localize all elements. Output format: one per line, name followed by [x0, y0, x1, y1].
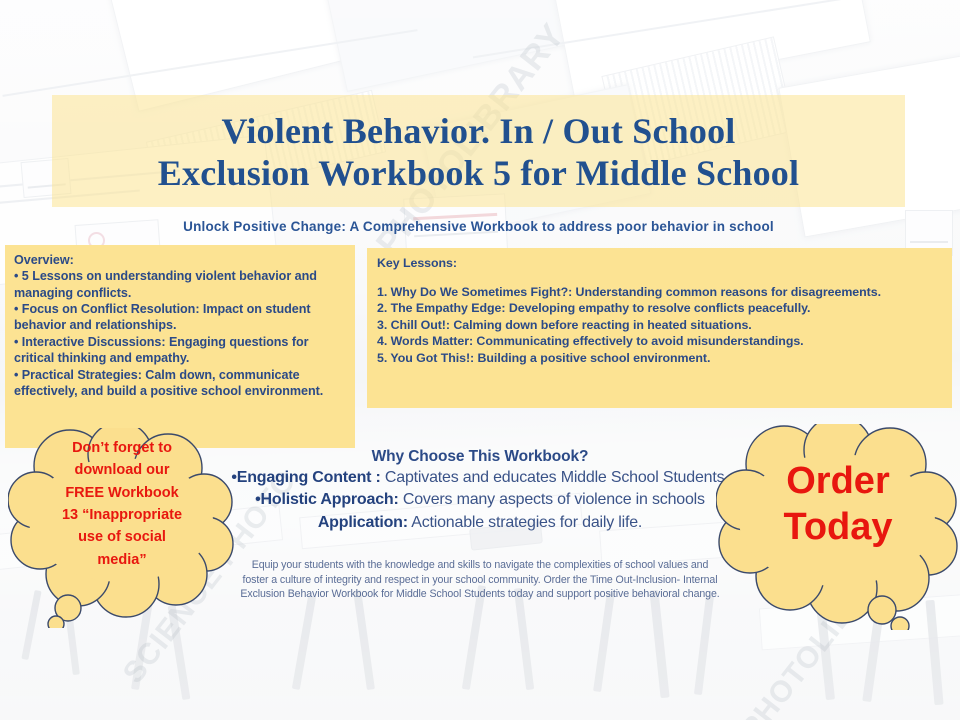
key-lesson-item: 5. You Got This!: Building a positive sc…: [377, 350, 949, 367]
bubble-left-line: use of social: [78, 526, 166, 548]
key-lesson-item: 3. Chill Out!: Calming down before react…: [377, 317, 949, 334]
overview-content: Overview: • 5 Lessons on understanding v…: [14, 252, 350, 399]
bubble-left-line: download our: [74, 459, 169, 481]
bubble-left-line: FREE Workbook: [65, 482, 178, 504]
promo-point-label: •Holistic Approach:: [255, 491, 398, 508]
title-line-1: Violent Behavior. In / Out School: [221, 110, 735, 152]
bubble-left-line: Don’t forget to: [72, 437, 172, 459]
spacer: [377, 272, 949, 284]
subtitle: Unlock Positive Change: A Comprehensive …: [52, 219, 905, 234]
promo-paragraph: Equip your students with the knowledge a…: [240, 558, 720, 602]
overview-item: • Interactive Discussions: Engaging ques…: [14, 334, 350, 367]
key-lessons-content: Key Lessons: 1. Why Do We Sometimes Figh…: [377, 255, 949, 366]
promo-point: Application: Actionable strategies for d…: [225, 513, 735, 533]
thought-bubble-order-today[interactable]: Order Today: [716, 424, 960, 630]
bubble-right-line: Order: [786, 458, 889, 504]
overview-heading: Overview:: [14, 252, 350, 268]
page-title: Violent Behavior. In / Out School Exclus…: [52, 96, 905, 208]
promo-block: Why Choose This Workbook? •Engaging Cont…: [225, 448, 735, 533]
promo-heading: Why Choose This Workbook?: [225, 448, 735, 466]
key-lesson-item: 4. Words Matter: Communicating effective…: [377, 333, 949, 350]
promo-point-text: Actionable strategies for daily life.: [408, 514, 642, 531]
thought-bubble-right-text: Order Today: [716, 424, 960, 630]
promo-point-text: Covers many aspects of violence in schoo…: [399, 491, 705, 508]
key-lessons-heading: Key Lessons:: [377, 255, 949, 272]
overview-item: • Focus on Conflict Resolution: Impact o…: [14, 301, 350, 334]
promo-point-label: •Engaging Content :: [231, 469, 380, 486]
bubble-left-line: 13 “Inappropriate: [62, 504, 182, 526]
thought-bubble-free-workbook[interactable]: Don’t forget to download our FREE Workbo…: [8, 428, 236, 628]
key-lesson-item: 1. Why Do We Sometimes Fight?: Understan…: [377, 284, 949, 301]
overview-item: • Practical Strategies: Calm down, commu…: [14, 367, 350, 400]
promo-point-label: Application:: [318, 514, 408, 531]
key-lesson-item: 2. The Empathy Edge: Developing empathy …: [377, 300, 949, 317]
bubble-left-line: media”: [97, 549, 146, 571]
promo-point: •Holistic Approach: Covers many aspects …: [225, 490, 735, 510]
overview-item: • 5 Lessons on understanding violent beh…: [14, 268, 350, 301]
slide-canvas: PHOTOLIBRARY SCIENCE PHOTO PHOTOLIBRARY …: [0, 0, 960, 720]
promo-point: •Engaging Content : Captivates and educa…: [225, 468, 735, 488]
thought-bubble-left-text: Don’t forget to download our FREE Workbo…: [8, 428, 236, 628]
title-line-2: Exclusion Workbook 5 for Middle School: [158, 152, 799, 194]
promo-point-text: Captivates and educates Middle School St…: [381, 469, 729, 486]
bubble-right-line: Today: [783, 504, 892, 550]
